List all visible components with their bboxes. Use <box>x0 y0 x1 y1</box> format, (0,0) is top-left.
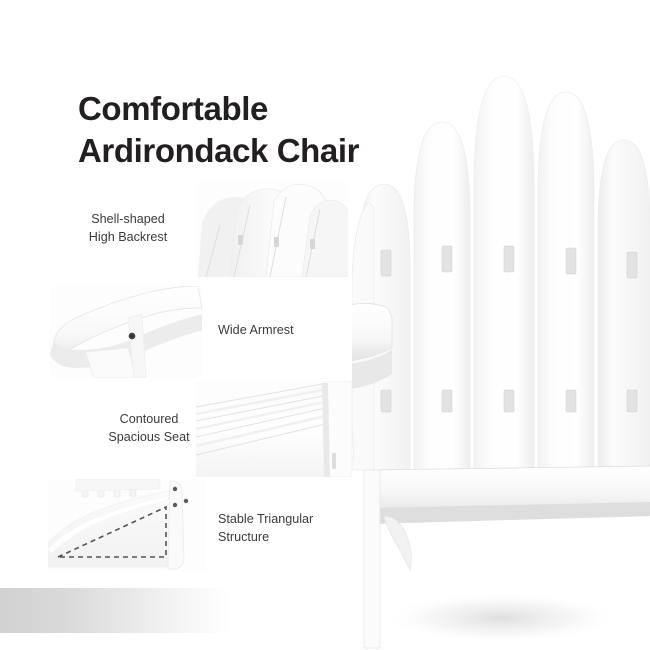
feature-label-backrest-line-2: High Backrest <box>62 229 194 247</box>
feature-label-triangular-structure-line-1: Stable Triangular <box>218 511 368 529</box>
title-line-2: Ardirondack Chair <box>78 130 498 172</box>
page-title: Comfortable Ardirondack Chair <box>78 88 498 172</box>
feature-label-seat-line-2: Spacious Seat <box>84 429 214 447</box>
feature-label-backrest-line-1: Shell-shaped <box>62 211 194 229</box>
feature-label-triangular-structure-line-2: Structure <box>218 529 368 547</box>
thumbnail-armrest <box>50 286 202 378</box>
product-infographic: Comfortable Ardirondack Chair <box>0 0 650 650</box>
thumbnail-triangular-structure <box>48 479 206 571</box>
feature-label-triangular-structure: Stable Triangular Structure <box>218 511 368 547</box>
feature-label-seat: Contoured Spacious Seat <box>84 411 214 447</box>
feature-label-armrest-line-1: Wide Armrest <box>218 322 358 340</box>
feature-label-armrest: Wide Armrest <box>218 322 358 340</box>
title-line-1: Comfortable <box>78 88 498 130</box>
feature-label-seat-line-1: Contoured <box>84 411 214 429</box>
feature-label-backrest: Shell-shaped High Backrest <box>62 211 194 247</box>
seat <box>370 466 650 524</box>
thumbnail-backrest-slats <box>196 181 348 277</box>
gradient-accent-band <box>0 588 230 633</box>
thumbnail-seat-slats <box>196 381 352 477</box>
